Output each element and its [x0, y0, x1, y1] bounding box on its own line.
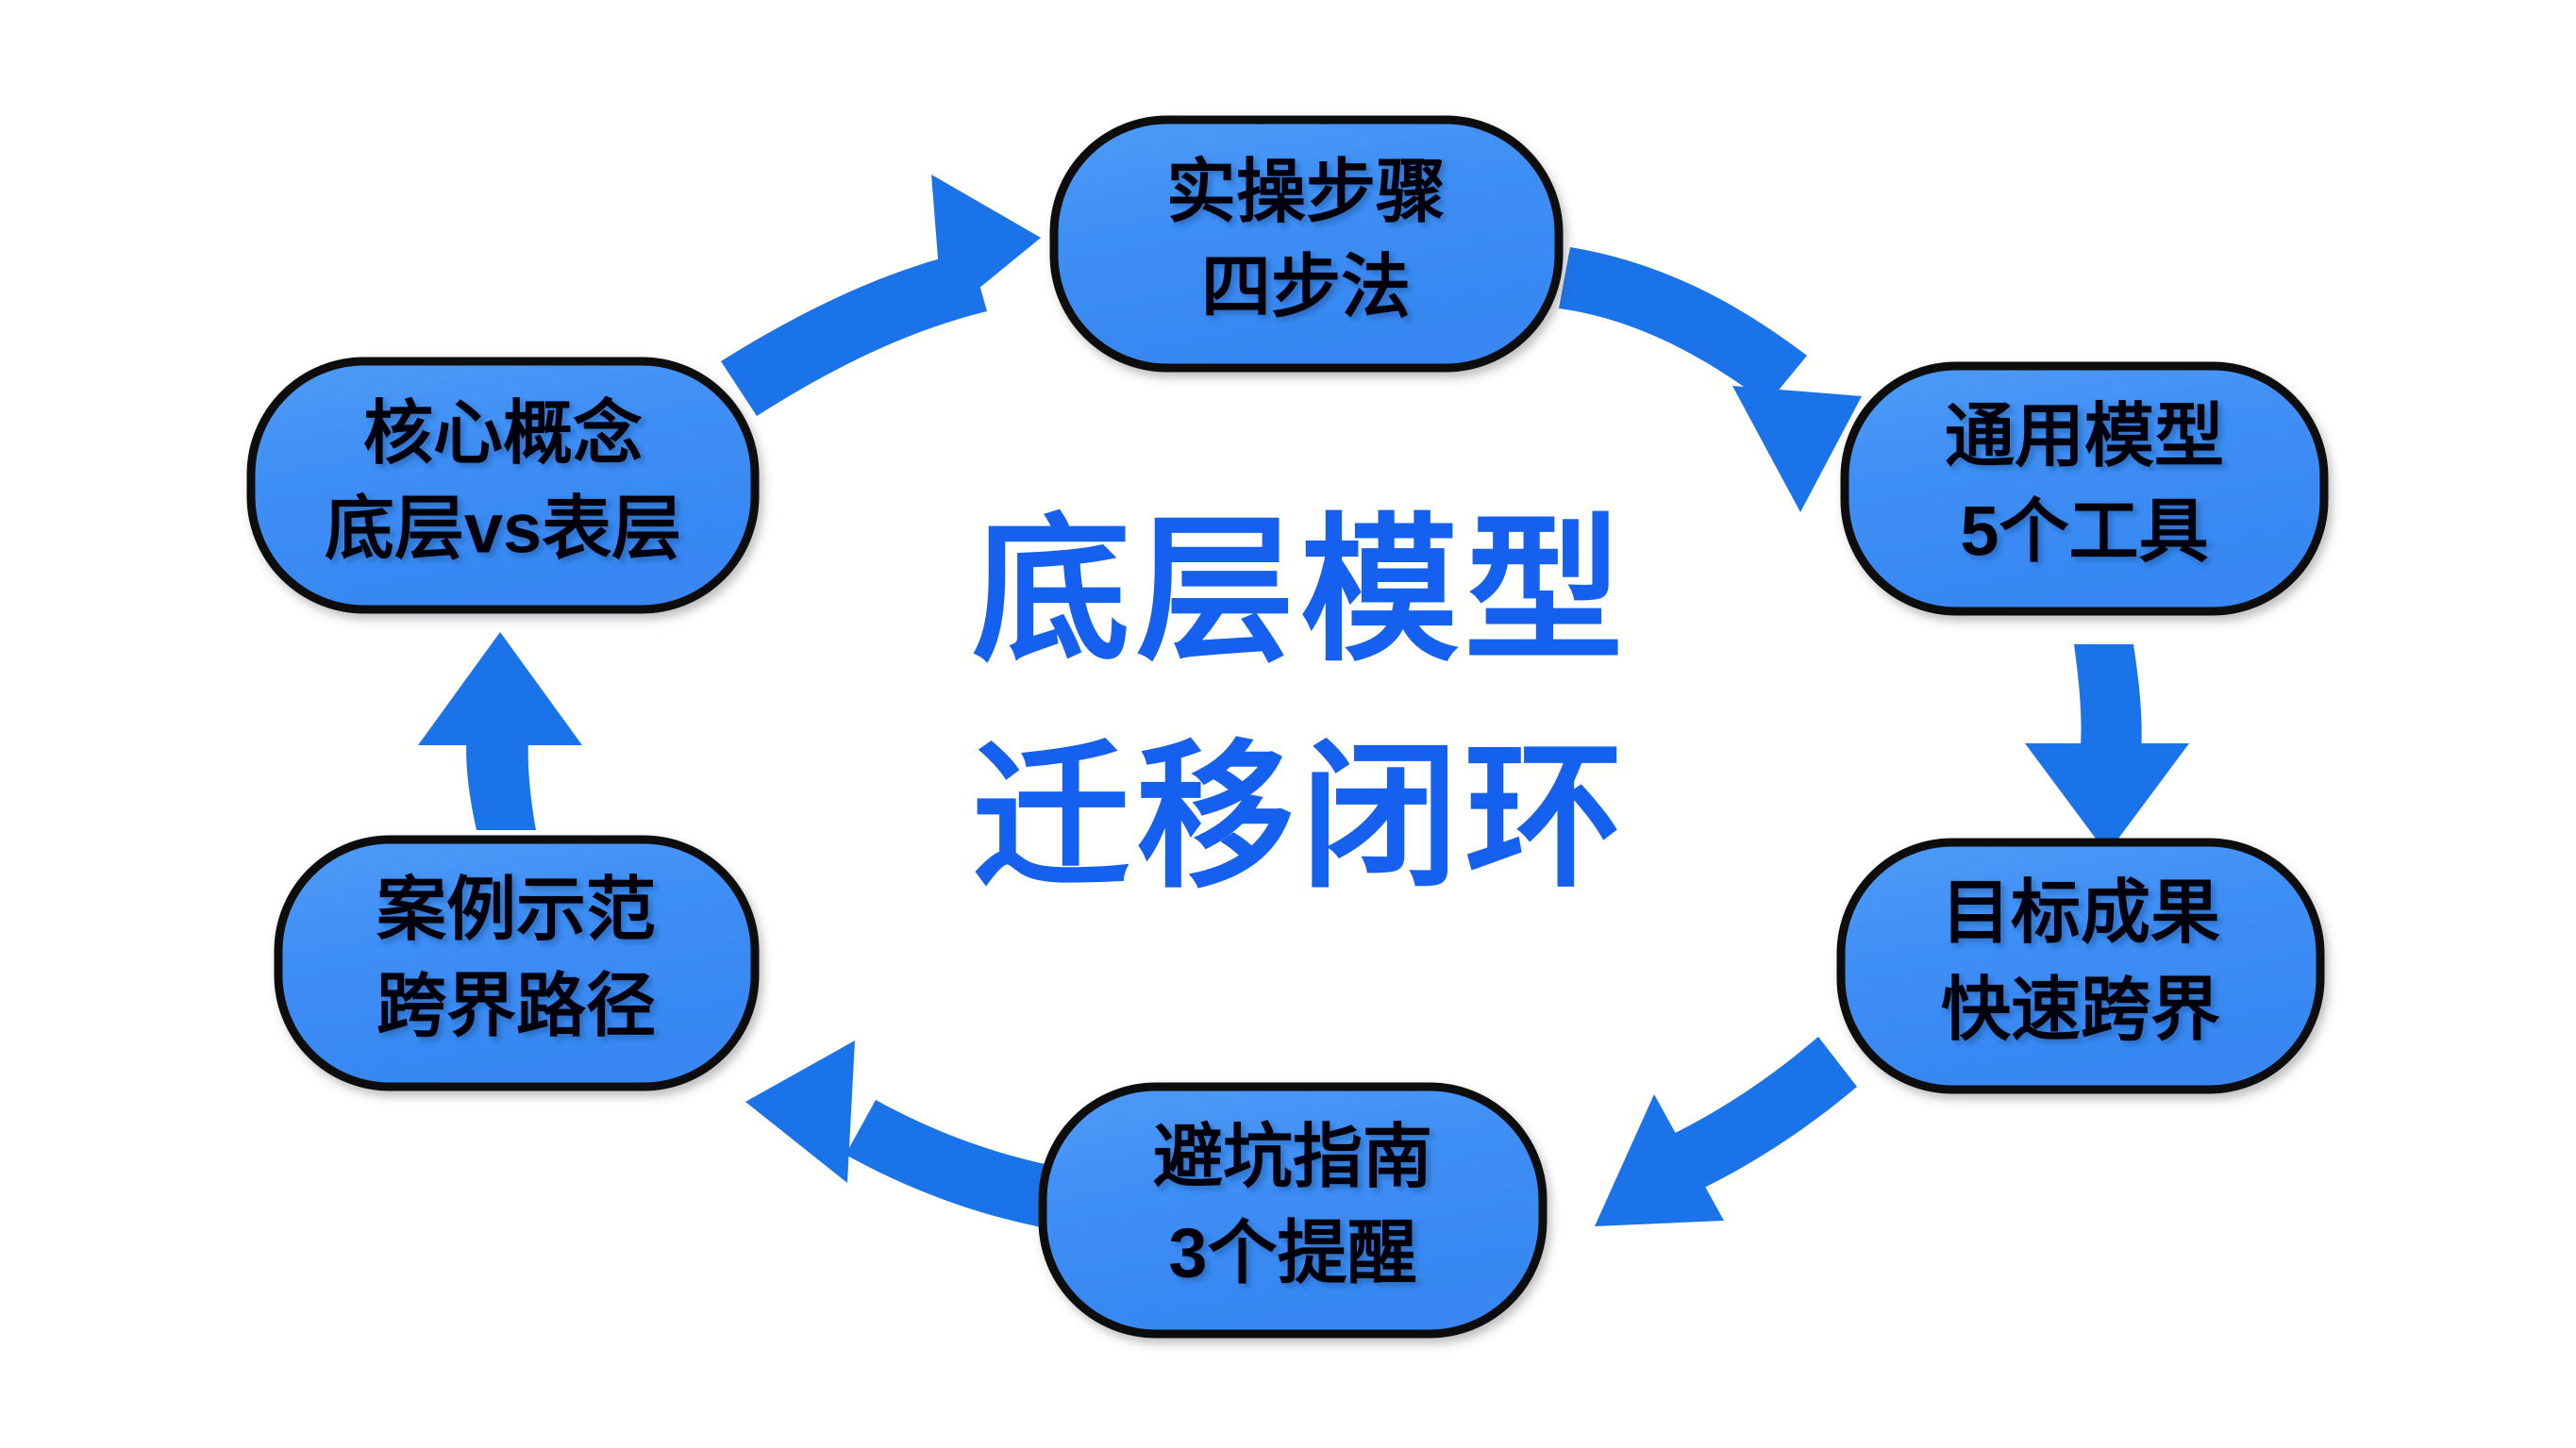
node-case-demo[interactable]: 案例示范 跨界路径: [278, 840, 755, 1087]
arrow-case-to-core: [418, 632, 582, 830]
node-case-demo-line2: 跨界路径: [376, 967, 656, 1045]
node-pitfall-guide-line1: 避坑指南: [1153, 1118, 1432, 1196]
node-core-concept[interactable]: 核心概念 底层vs表层: [251, 361, 755, 609]
diagram-canvas: 核心概念 底层vs表层 实操步骤 四步法 通用模型 5个工具 目标成果 快速跨界…: [0, 0, 2576, 1448]
node-pitfall-guide-line2: 3个提醒: [1168, 1214, 1416, 1292]
center-title-line1: 底层模型: [972, 502, 1629, 679]
node-general-model-line1: 通用模型: [1945, 397, 2224, 475]
node-general-model-line2: 5个工具: [1960, 492, 2208, 571]
node-case-demo-line1: 案例示范: [376, 871, 656, 949]
node-general-model[interactable]: 通用模型 5个工具: [1845, 366, 2324, 611]
arrow-steps-to-model: [1559, 247, 1862, 512]
arrow-model-to-outcome: [2025, 644, 2189, 854]
node-core-concept-line2: 底层vs表层: [325, 490, 681, 568]
arrow-pitfall-to-case: [745, 1040, 1062, 1229]
node-pitfall-guide[interactable]: 避坑指南 3个提醒: [1043, 1087, 1543, 1334]
node-core-concept-line1: 核心概念: [363, 394, 643, 473]
cycle-diagram-svg: 核心概念 底层vs表层 实操步骤 四步法 通用模型 5个工具 目标成果 快速跨界…: [0, 0, 2576, 1448]
arrow-outcome-to-pitfall: [1595, 1037, 1857, 1226]
center-title-line2: 迁移闭环: [972, 728, 1629, 906]
node-target-outcome-line2: 快速跨界: [1941, 971, 2220, 1049]
node-practical-steps[interactable]: 实操步骤 四步法: [1054, 120, 1559, 368]
node-practical-steps-line1: 实操步骤: [1166, 153, 1446, 231]
node-target-outcome-line1: 目标成果: [1941, 874, 2220, 952]
node-practical-steps-line2: 四步法: [1201, 248, 1411, 326]
node-target-outcome[interactable]: 目标成果 快速跨界: [1841, 842, 2320, 1090]
center-title: 底层模型 迁移闭环: [972, 502, 1629, 906]
arrow-core-to-steps: [721, 175, 1041, 416]
